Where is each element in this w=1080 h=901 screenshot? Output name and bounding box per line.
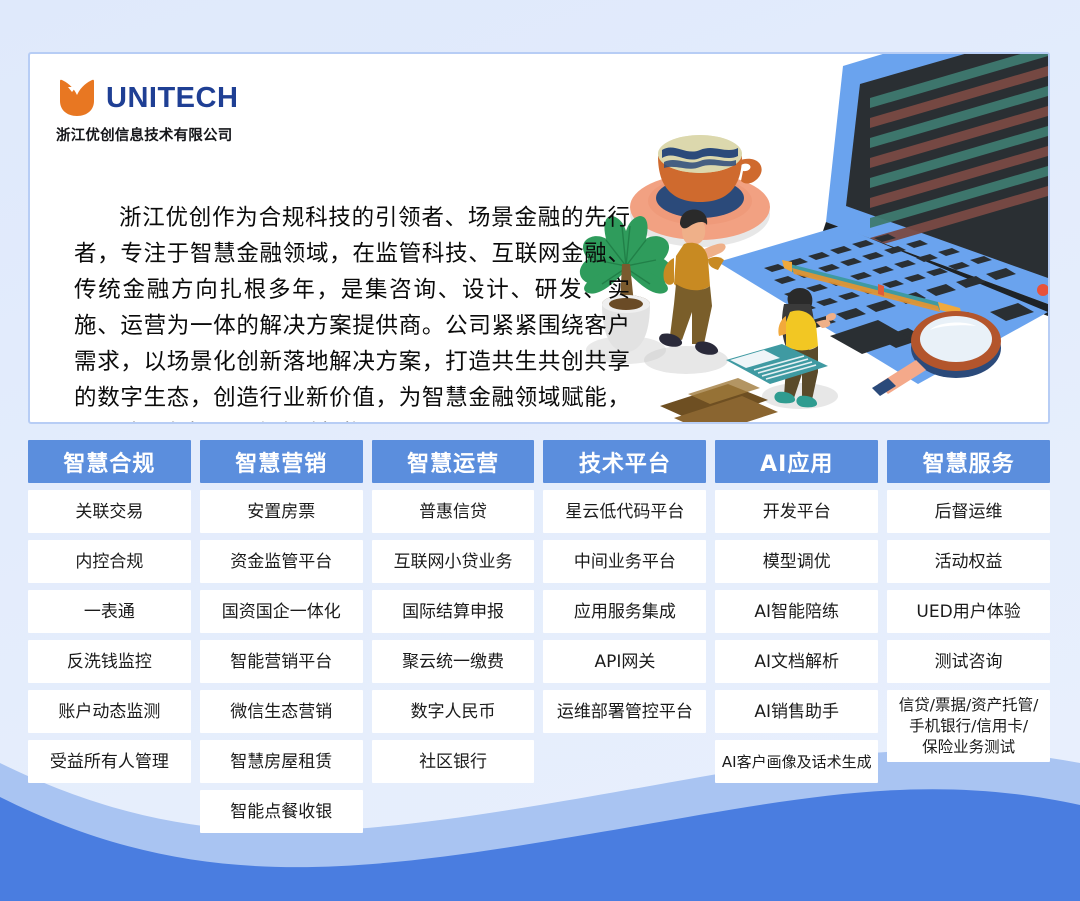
grid-cell[interactable]: 活动权益 <box>887 540 1050 583</box>
brand-block: UNITECH 浙江优创信息技术有限公司 <box>56 76 356 145</box>
grid-column-6: 智慧服务后督运维活动权益UED用户体验测试咨询信贷/票据/资产托管/手机银行/信… <box>887 440 1050 833</box>
grid-cell[interactable]: 测试咨询 <box>887 640 1050 683</box>
grid-cell[interactable]: 资金监管平台 <box>200 540 363 583</box>
grid-cell[interactable]: 关联交易 <box>28 490 191 533</box>
grid-cell[interactable]: 智能营销平台 <box>200 640 363 683</box>
grid-cell[interactable]: 应用服务集成 <box>543 590 706 633</box>
column-header[interactable]: 智慧营销 <box>200 440 363 483</box>
grid-cell[interactable]: 受益所有人管理 <box>28 740 191 783</box>
column-header[interactable]: 智慧运营 <box>372 440 535 483</box>
grid-column-4: 技术平台星云低代码平台中间业务平台应用服务集成API网关运维部署管控平台 <box>543 440 706 833</box>
grid-cell[interactable]: 内控合规 <box>28 540 191 583</box>
column-header[interactable]: 智慧合规 <box>28 440 191 483</box>
grid-cell[interactable]: 智慧房屋租赁 <box>200 740 363 783</box>
grid-cell[interactable]: 智能点餐收银 <box>200 790 363 833</box>
grid-cell[interactable]: AI智能陪练 <box>715 590 878 633</box>
grid-cell[interactable]: 星云低代码平台 <box>543 490 706 533</box>
isometric-desk-illustration <box>578 54 1048 422</box>
grid-cell[interactable]: 运维部署管控平台 <box>543 690 706 733</box>
grid-cell[interactable]: UED用户体验 <box>887 590 1050 633</box>
column-header[interactable]: 智慧服务 <box>887 440 1050 483</box>
grid-cell[interactable]: 反洗钱监控 <box>28 640 191 683</box>
grid-column-1: 智慧合规关联交易内控合规一表通反洗钱监控账户动态监测受益所有人管理 <box>28 440 191 833</box>
grid-cell[interactable]: 聚云统一缴费 <box>372 640 535 683</box>
grid-column-5: AI应用开发平台模型调优AI智能陪练AI文档解析AI销售助手AI客户画像及话术生… <box>715 440 878 833</box>
grid-cell[interactable]: 国资国企一体化 <box>200 590 363 633</box>
grid-cell[interactable]: 普惠信贷 <box>372 490 535 533</box>
column-header[interactable]: 技术平台 <box>543 440 706 483</box>
brand-wordmark: UNITECH <box>106 84 238 113</box>
company-intro-paragraph: 浙江优创作为合规科技的引领者、场景金融的先行者，专注于智慧金融领域，在监管科技、… <box>74 200 630 424</box>
grid-cell[interactable]: 账户动态监测 <box>28 690 191 733</box>
grid-cell[interactable]: 互联网小贷业务 <box>372 540 535 583</box>
grid-cell[interactable]: 微信生态营销 <box>200 690 363 733</box>
grid-cell[interactable]: 安置房票 <box>200 490 363 533</box>
grid-column-2: 智慧营销安置房票资金监管平台国资国企一体化智能营销平台微信生态营销智慧房屋租赁智… <box>200 440 363 833</box>
grid-cell[interactable]: 信贷/票据/资产托管/手机银行/信用卡/保险业务测试 <box>887 690 1050 762</box>
grid-cell[interactable]: 模型调优 <box>715 540 878 583</box>
grid-cell[interactable]: 国际结算申报 <box>372 590 535 633</box>
grid-cell[interactable]: AI文档解析 <box>715 640 878 683</box>
grid-cell[interactable]: API网关 <box>543 640 706 683</box>
hero-card: UNITECH 浙江优创信息技术有限公司 浙江优创作为合规科技的引领者、场景金融… <box>28 52 1050 424</box>
company-name-cn: 浙江优创信息技术有限公司 <box>56 124 356 145</box>
grid-cell[interactable]: AI销售助手 <box>715 690 878 733</box>
column-header[interactable]: AI应用 <box>715 440 878 483</box>
capability-matrix: 智慧合规关联交易内控合规一表通反洗钱监控账户动态监测受益所有人管理智慧营销安置房… <box>28 440 1050 833</box>
grid-column-3: 智慧运营普惠信贷互联网小贷业务国际结算申报聚云统一缴费数字人民币社区银行 <box>372 440 535 833</box>
grid-cell[interactable]: AI客户画像及话术生成 <box>715 740 878 783</box>
grid-cell[interactable]: 一表通 <box>28 590 191 633</box>
tulip-logo-icon <box>56 77 98 119</box>
grid-cell[interactable]: 后督运维 <box>887 490 1050 533</box>
grid-cell[interactable]: 数字人民币 <box>372 690 535 733</box>
grid-cell[interactable]: 开发平台 <box>715 490 878 533</box>
grid-cell[interactable]: 社区银行 <box>372 740 535 783</box>
grid-cell[interactable]: 中间业务平台 <box>543 540 706 583</box>
